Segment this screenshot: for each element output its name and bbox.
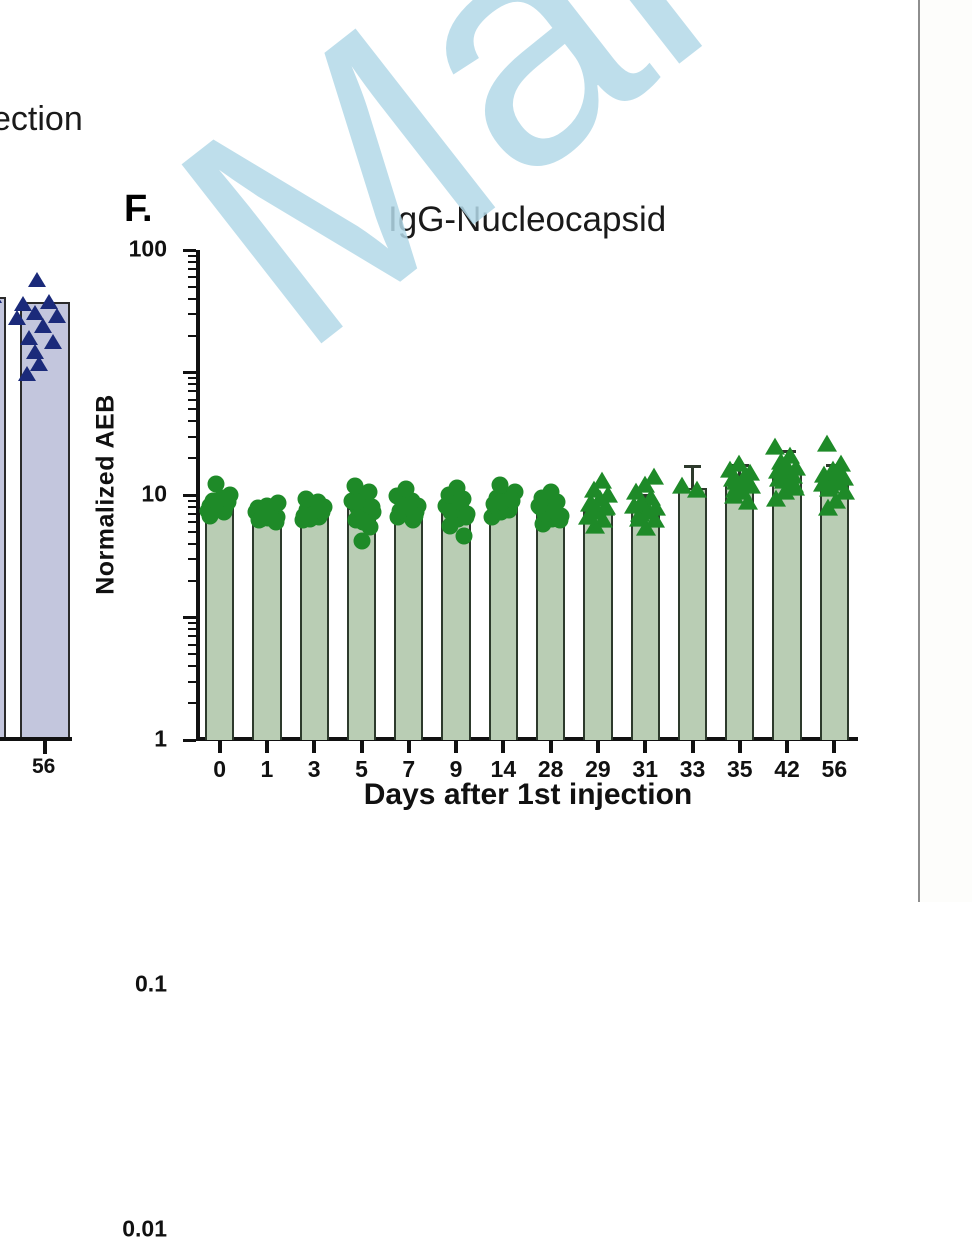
y-tick-minor <box>188 261 196 263</box>
data-point-circle <box>364 498 381 515</box>
x-tick-label: 33 <box>680 756 706 783</box>
y-tick-minor <box>188 255 196 257</box>
data-point-triangle <box>813 475 833 492</box>
data-point-triangle <box>631 494 651 511</box>
x-tick <box>785 740 789 753</box>
y-tick-label: 0.01 <box>122 1215 167 1242</box>
bar <box>772 472 801 740</box>
y-tick-minor <box>188 628 196 630</box>
data-point-circle <box>400 498 417 515</box>
x-tick <box>312 740 316 753</box>
y-tick-minor <box>188 420 196 422</box>
x-tick <box>691 740 695 753</box>
y-tick-minor <box>188 506 196 508</box>
y-tick-minor <box>188 521 196 523</box>
y-tick-major: 1 <box>183 494 196 497</box>
y-tick-major: 0.01 <box>183 739 196 742</box>
y-axis-label: Normalized AEB <box>92 375 121 615</box>
y-axis-line <box>196 250 200 740</box>
y-tick-minor <box>188 513 196 515</box>
data-point-circle <box>349 493 366 510</box>
data-point-triangle <box>765 438 785 455</box>
data-point-circle <box>503 491 520 508</box>
bar <box>205 506 234 740</box>
data-point-circle <box>312 503 329 520</box>
y-tick-minor <box>188 408 196 410</box>
data-point-triangle <box>817 435 837 452</box>
y-tick-minor <box>188 377 196 379</box>
x-tick-label: 28 <box>538 756 564 783</box>
data-point-circle <box>543 484 560 501</box>
x-tick-label: 29 <box>585 756 611 783</box>
x-tick-label: 56 <box>822 756 848 783</box>
data-point-circle <box>207 476 224 493</box>
y-tick-minor <box>188 500 196 502</box>
y-tick-minor <box>188 457 196 459</box>
data-point-triangle <box>592 472 612 489</box>
y-tick-minor <box>188 558 196 560</box>
x-tick <box>407 740 411 753</box>
y-tick-minor <box>188 286 196 288</box>
y-tick-minor <box>188 580 196 582</box>
x-tick <box>360 740 364 753</box>
y-tick-minor <box>188 622 196 624</box>
bar <box>536 512 565 740</box>
bar <box>820 481 849 740</box>
data-point-circle <box>451 493 468 510</box>
x-tick-label: 31 <box>632 756 658 783</box>
y-tick-label: 0.1 <box>135 970 167 997</box>
data-point-circle <box>545 503 562 520</box>
y-tick-minor <box>188 335 196 337</box>
data-point-circle <box>456 528 473 545</box>
y-tick-minor <box>188 383 196 385</box>
y-tick-minor <box>188 681 196 683</box>
y-tick-minor <box>188 653 196 655</box>
bar <box>583 511 612 740</box>
bar <box>489 504 518 740</box>
bar <box>678 488 707 740</box>
chart-title: IgG-Nucleocapsid <box>388 200 666 240</box>
y-tick-minor <box>188 399 196 401</box>
y-tick-minor <box>188 635 196 637</box>
x-tick <box>501 740 505 753</box>
bar <box>300 512 329 740</box>
x-tick-label: 0 <box>213 756 226 783</box>
bar <box>631 508 660 740</box>
y-tick-minor <box>188 298 196 300</box>
y-tick-major: 0.1 <box>183 616 196 619</box>
y-tick-minor <box>188 313 196 315</box>
data-point-circle <box>353 533 370 550</box>
x-tick <box>832 740 836 753</box>
data-point-triangle <box>672 477 692 494</box>
y-tick-minor <box>188 276 196 278</box>
x-tick <box>643 740 647 753</box>
data-point-circle <box>457 509 474 526</box>
x-tick <box>454 740 458 753</box>
x-axis-line <box>196 737 858 741</box>
x-axis-label: Days after 1st injection <box>198 778 858 812</box>
bar <box>252 514 281 740</box>
y-tick-major: 100 <box>183 249 196 252</box>
bar <box>725 483 754 740</box>
y-tick-label: 10 <box>141 480 167 507</box>
x-tick <box>265 740 269 753</box>
x-tick-label: 3 <box>308 756 321 783</box>
panel-letter: F. <box>124 188 152 231</box>
page-right-margin <box>920 0 972 902</box>
x-tick <box>549 740 553 753</box>
x-tick-label: 14 <box>491 756 517 783</box>
data-point-circle <box>397 480 414 497</box>
x-tick-label: 1 <box>261 756 274 783</box>
y-tick-minor <box>188 390 196 392</box>
y-tick-minor <box>188 665 196 667</box>
y-tick-minor <box>188 702 196 704</box>
x-tick <box>218 740 222 753</box>
data-point-circle <box>530 497 547 514</box>
data-point-triangle <box>785 478 805 495</box>
y-tick-label: 100 <box>129 235 167 262</box>
y-tick-minor <box>188 644 196 646</box>
data-point-circle <box>346 478 363 495</box>
x-tick-label: 9 <box>450 756 463 783</box>
y-tick-major: 10 <box>183 371 196 374</box>
panel-f: F. IgG-Nucleocapsid Normalized AEB Days … <box>0 0 918 902</box>
error-bar-cap <box>684 465 702 468</box>
y-tick-minor <box>188 531 196 533</box>
data-point-triangle <box>734 474 754 491</box>
data-point-triangle <box>580 495 600 512</box>
data-point-triangle <box>644 468 664 485</box>
data-point-circle <box>355 514 372 531</box>
data-point-triangle <box>777 457 797 474</box>
data-point-circle <box>298 491 315 508</box>
y-tick-minor <box>188 543 196 545</box>
x-tick-label: 5 <box>355 756 368 783</box>
x-tick <box>738 740 742 753</box>
bar <box>394 510 423 740</box>
figure-canvas: ection 56 F. IgG-Nucleocapsid Normalized… <box>0 0 972 902</box>
y-tick-minor <box>188 268 196 270</box>
x-tick <box>596 740 600 753</box>
y-tick-label: 1 <box>154 725 167 752</box>
data-point-circle <box>218 491 235 508</box>
y-tick-minor <box>188 436 196 438</box>
x-tick-label: 35 <box>727 756 753 783</box>
x-tick-label: 7 <box>402 756 415 783</box>
x-tick-label: 42 <box>774 756 800 783</box>
page-border-line <box>918 0 920 902</box>
data-point-circle <box>270 495 287 512</box>
plot-area: 1001010.10.01 0135791428293133354256 <box>196 250 858 740</box>
